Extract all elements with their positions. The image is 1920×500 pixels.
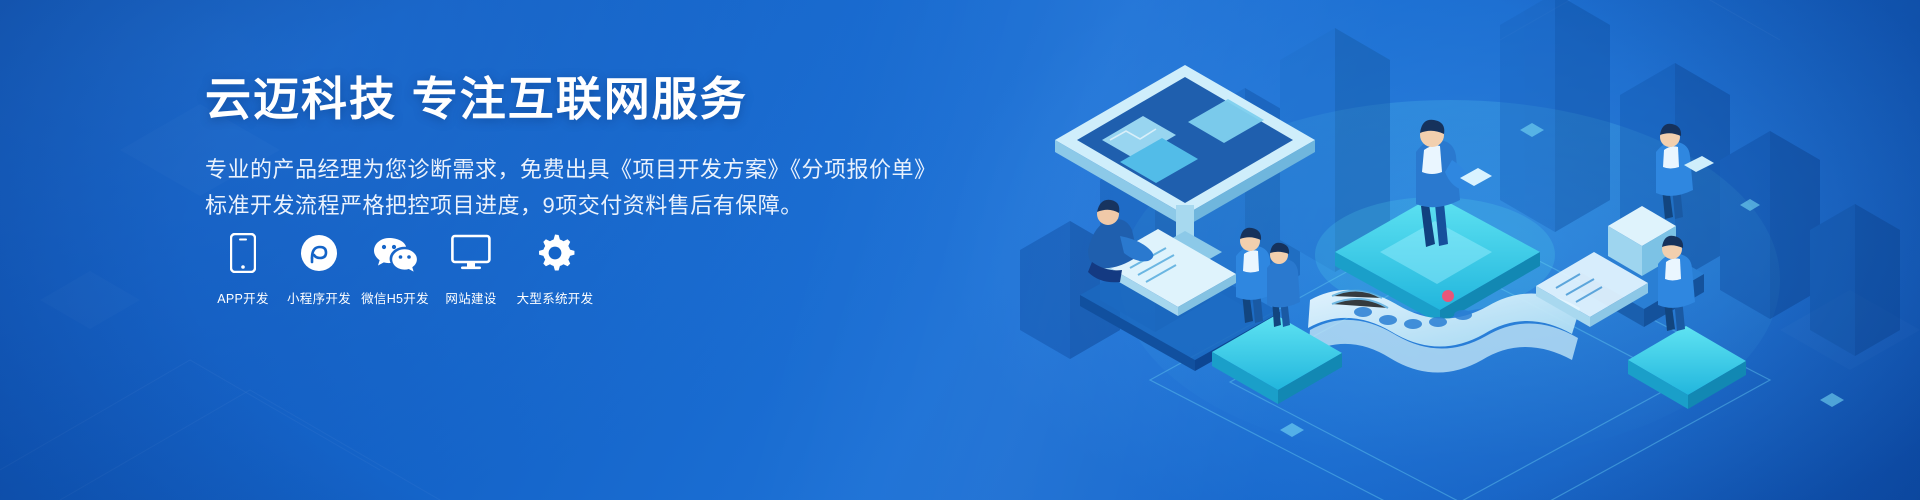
person-right-upper: [1656, 124, 1714, 219]
person-standing-center: [1416, 120, 1492, 247]
platform-left-lower: [1212, 315, 1342, 404]
service-item-wechat-h5[interactable]: 微信H5开发: [357, 232, 433, 307]
person-left-lower-a: [1236, 228, 1273, 323]
service-item-miniprogram[interactable]: 小程序开发: [281, 232, 357, 307]
person-seated-left: [1088, 200, 1236, 316]
mini-program-icon: [300, 232, 338, 274]
dashboard-screen: [1055, 65, 1315, 371]
mobile-phone-icon: [230, 232, 256, 274]
service-label: 微信H5开发: [361, 288, 429, 307]
service-item-website[interactable]: 网站建设: [433, 232, 509, 307]
subtitle-line-2: 标准开发流程严格把控项目进度，9项交付资料售后有保障。: [205, 188, 905, 224]
platform-right-lower: [1628, 326, 1746, 409]
service-item-app[interactable]: APP开发: [205, 232, 281, 307]
service-label: 网站建设: [445, 288, 496, 307]
page-title: 云迈科技 专注互联网服务: [205, 72, 905, 126]
subtitle-line-1: 专业的产品经理为您诊断需求，免费出具《项目开发方案》《分项报价单》: [205, 152, 905, 188]
hero-banner: 云迈科技 专注互联网服务 专业的产品经理为您诊断需求，免费出具《项目开发方案》《…: [0, 0, 1920, 500]
central-platform: [1315, 195, 1555, 324]
person-right-lower: [1658, 236, 1695, 331]
banner-subtitle: 专业的产品经理为您诊断需求，免费出具《项目开发方案》《分项报价单》 标准开发流程…: [205, 152, 905, 223]
data-ribbon: [1308, 290, 1580, 373]
banner-content: 云迈科技 专注互联网服务 专业的产品经理为您诊断需求，免费出具《项目开发方案》《…: [205, 72, 905, 224]
service-label: 小程序开发: [287, 288, 351, 307]
monitor-icon: [451, 232, 491, 274]
service-label: APP开发: [217, 288, 269, 307]
service-item-large-system[interactable]: 大型系统开发: [509, 232, 601, 307]
isometric-illustration: [980, 0, 1920, 500]
gear-icon: [535, 232, 575, 274]
service-list: APP开发 小程序开发: [205, 232, 601, 307]
cube-podium: [1580, 206, 1704, 327]
wechat-icon: [373, 232, 417, 274]
person-left-lower-b: [1267, 243, 1300, 327]
service-label: 大型系统开发: [517, 288, 594, 307]
floating-ui-card: [1536, 252, 1648, 327]
